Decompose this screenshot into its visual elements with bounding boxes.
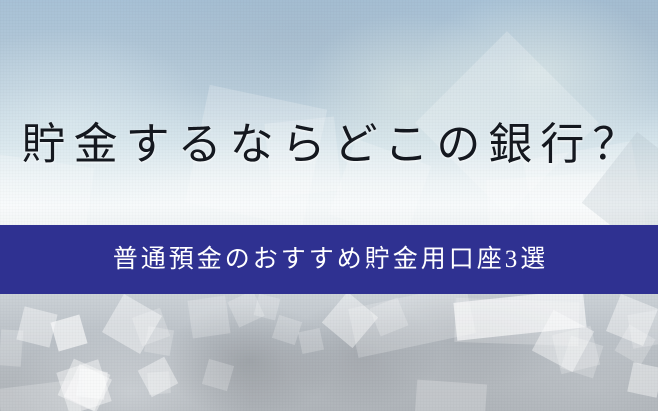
banner-image: 貯金するならどこの銀行？ 普通預金のおすすめ貯金用口座3選 — [0, 0, 658, 411]
subtitle-text: 普通預金のおすすめ貯金用口座3選 — [110, 245, 549, 275]
subtitle-band: 普通預金のおすすめ貯金用口座3選 — [0, 225, 658, 294]
page-title: 貯金するならどこの銀行？ — [0, 118, 658, 172]
background-glow-lower — [0, 285, 658, 411]
